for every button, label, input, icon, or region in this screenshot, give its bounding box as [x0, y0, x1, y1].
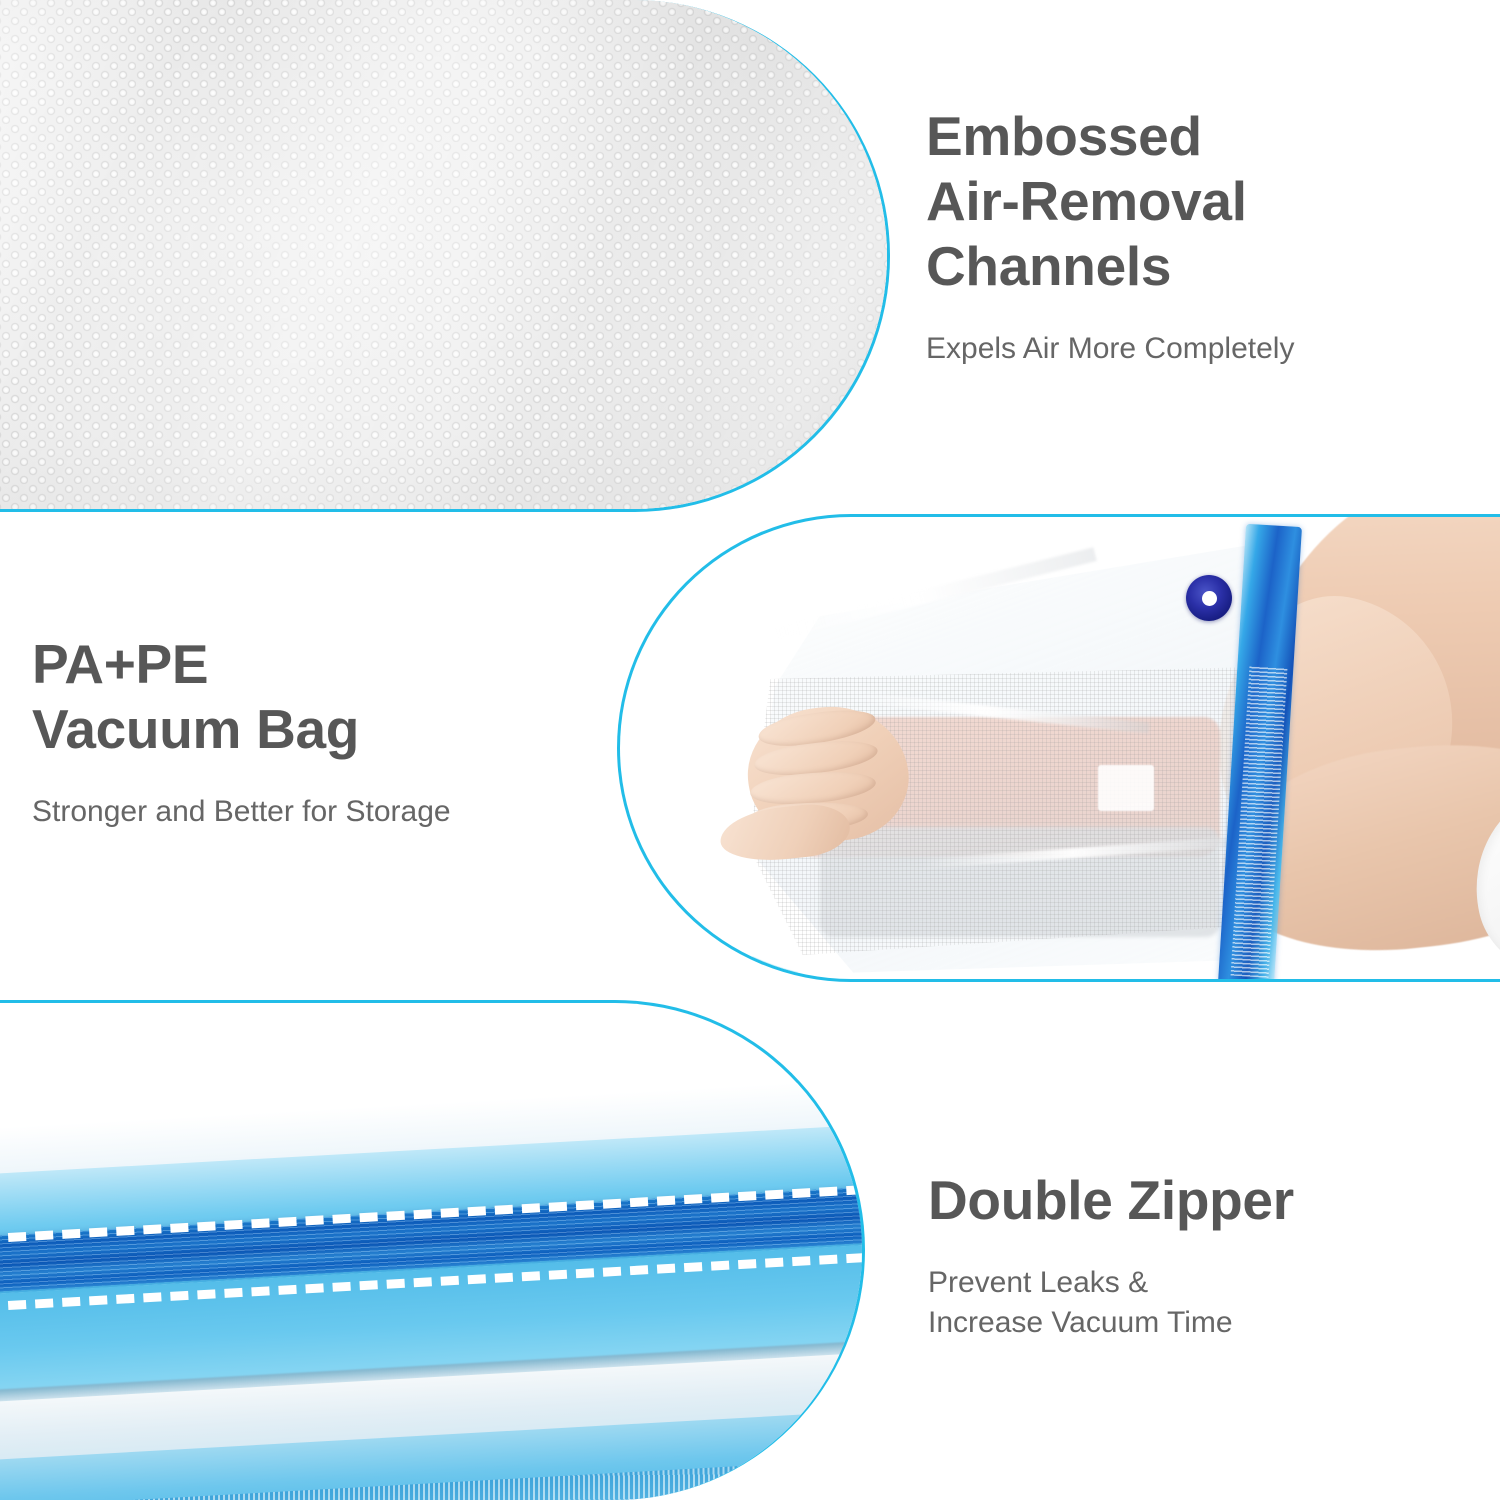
feature-text-papebag: PA+PE Vacuum Bag Stronger and Better for… [32, 632, 612, 831]
air-valve-icon [1186, 575, 1232, 621]
double-zipper-photo-panel [0, 1000, 865, 1500]
embossed-subtitle: Expels Air More Completely [926, 329, 1456, 368]
papebag-heading: PA+PE Vacuum Bag [32, 632, 612, 762]
embossed-heading-line2: Air-Removal [926, 170, 1247, 232]
infographic-canvas: Embossed Air-Removal Channels Expels Air… [0, 0, 1500, 1500]
feature-text-embossed: Embossed Air-Removal Channels Expels Air… [926, 104, 1456, 368]
papebag-heading-line2: Vacuum Bag [32, 698, 359, 760]
zipper-subtitle-line1: Prevent Leaks & [928, 1266, 1148, 1299]
zipper-subtitle-line2: Increase Vacuum Time [928, 1306, 1233, 1339]
feature-text-zipper: Double Zipper Prevent Leaks & Increase V… [928, 1168, 1468, 1343]
zipper-heading: Double Zipper [928, 1168, 1468, 1233]
zipper-subtitle: Prevent Leaks & Increase Vacuum Time [928, 1263, 1468, 1343]
embossed-heading: Embossed Air-Removal Channels [926, 104, 1456, 299]
embossed-heading-line3: Channels [926, 235, 1171, 297]
embossed-texture-panel [0, 0, 890, 512]
embossed-heading-line1: Embossed [926, 105, 1202, 167]
bag-label-patch [1098, 765, 1154, 811]
papebag-heading-line1: PA+PE [32, 633, 208, 695]
papebag-subtitle: Stronger and Better for Storage [32, 792, 612, 831]
embossed-texture-vignette [0, 0, 887, 509]
vacuum-bag-photo-panel [617, 514, 1500, 982]
